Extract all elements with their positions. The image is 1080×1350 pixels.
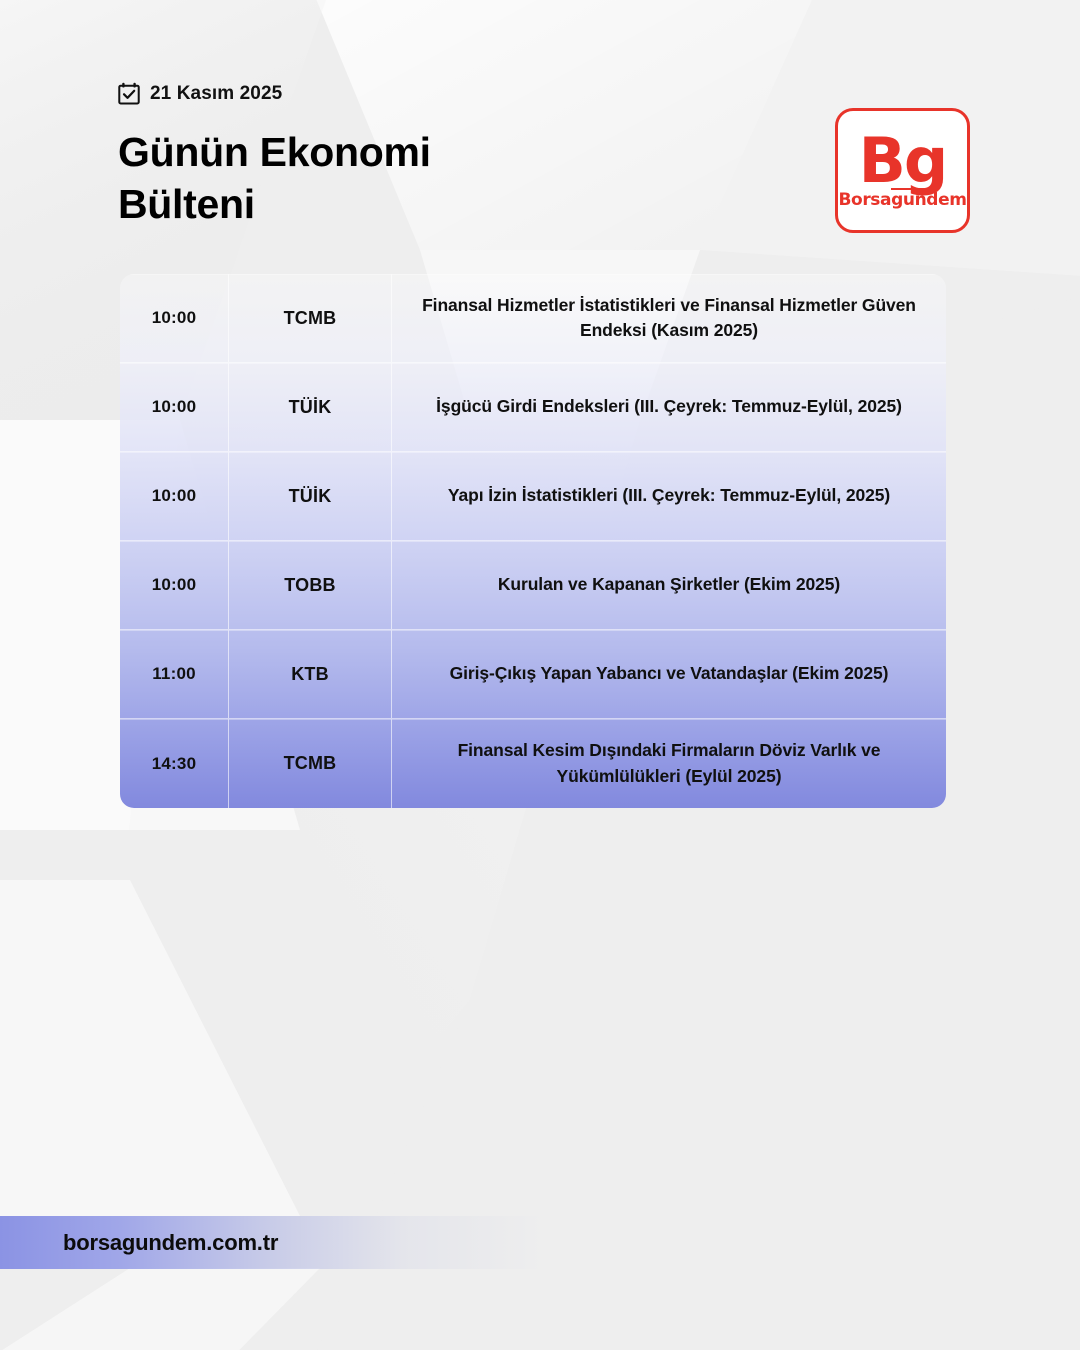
table-row[interactable]: 10:00 TÜİK Yapı İzin İstatistikleri (III… (120, 452, 946, 541)
table-row[interactable]: 10:00 TCMB Finansal Hizmetler İstatistik… (120, 274, 946, 363)
page-title: Günün Ekonomi Bülteni (118, 126, 548, 231)
logo-monogram: Bg (859, 132, 947, 189)
cell-time: 10:00 (120, 541, 229, 629)
cell-description: Finansal Kesim Dışındaki Firmaların Dövi… (392, 719, 946, 808)
cell-time: 10:00 (120, 452, 229, 540)
calendar-check-icon (118, 82, 140, 105)
date-row: 21 Kasım 2025 (118, 78, 978, 108)
table-row[interactable]: 14:30 TCMB Finansal Kesim Dışındaki Firm… (120, 719, 946, 808)
poster-canvas: 21 Kasım 2025 Günün Ekonomi Bülteni Bg B… (0, 0, 1080, 1350)
table-row[interactable]: 10:00 TOBB Kurulan ve Kapanan Şirketler … (120, 541, 946, 630)
cell-description: Yapı İzin İstatistikleri (III. Çeyrek: T… (392, 452, 946, 540)
page-title-line-1: Günün Ekonomi (118, 126, 548, 178)
table-row[interactable]: 10:00 TÜİK İşgücü Girdi Endeksleri (III.… (120, 363, 946, 452)
logo-wordmark-c: em (938, 190, 966, 210)
cell-org: TCMB (229, 274, 392, 362)
site-url[interactable]: borsagundem.com.tr (63, 1230, 278, 1256)
cell-time: 10:00 (120, 363, 229, 451)
logo-wordmark-a: Borsa (838, 190, 891, 210)
page-title-line-2: Bülteni (118, 178, 548, 230)
cell-time: 11:00 (120, 630, 229, 718)
borsagundem-logo[interactable]: Bg Borsagundem (835, 108, 970, 233)
date-label: 21 Kasım 2025 (150, 84, 282, 103)
cell-org: TÜİK (229, 452, 392, 540)
cell-org: KTB (229, 630, 392, 718)
schedule-table: 10:00 TCMB Finansal Hizmetler İstatistik… (120, 274, 946, 808)
logo-wordmark: Borsagundem (838, 192, 966, 209)
cell-org: TOBB (229, 541, 392, 629)
table-row[interactable]: 11:00 KTB Giriş-Çıkış Yapan Yabancı ve V… (120, 630, 946, 719)
cell-description: Finansal Hizmetler İstatistikleri ve Fin… (392, 274, 946, 362)
cell-org: TÜİK (229, 363, 392, 451)
cell-description: İşgücü Girdi Endeksleri (III. Çeyrek: Te… (392, 363, 946, 451)
cell-time: 14:30 (120, 719, 229, 808)
footer-bar: borsagundem.com.tr (0, 1216, 546, 1269)
cell-description: Giriş-Çıkış Yapan Yabancı ve Vatandaşlar… (392, 630, 946, 718)
cell-org: TCMB (229, 719, 392, 808)
logo-wordmark-b: gund (891, 188, 938, 210)
cell-description: Kurulan ve Kapanan Şirketler (Ekim 2025) (392, 541, 946, 629)
cell-time: 10:00 (120, 274, 229, 362)
